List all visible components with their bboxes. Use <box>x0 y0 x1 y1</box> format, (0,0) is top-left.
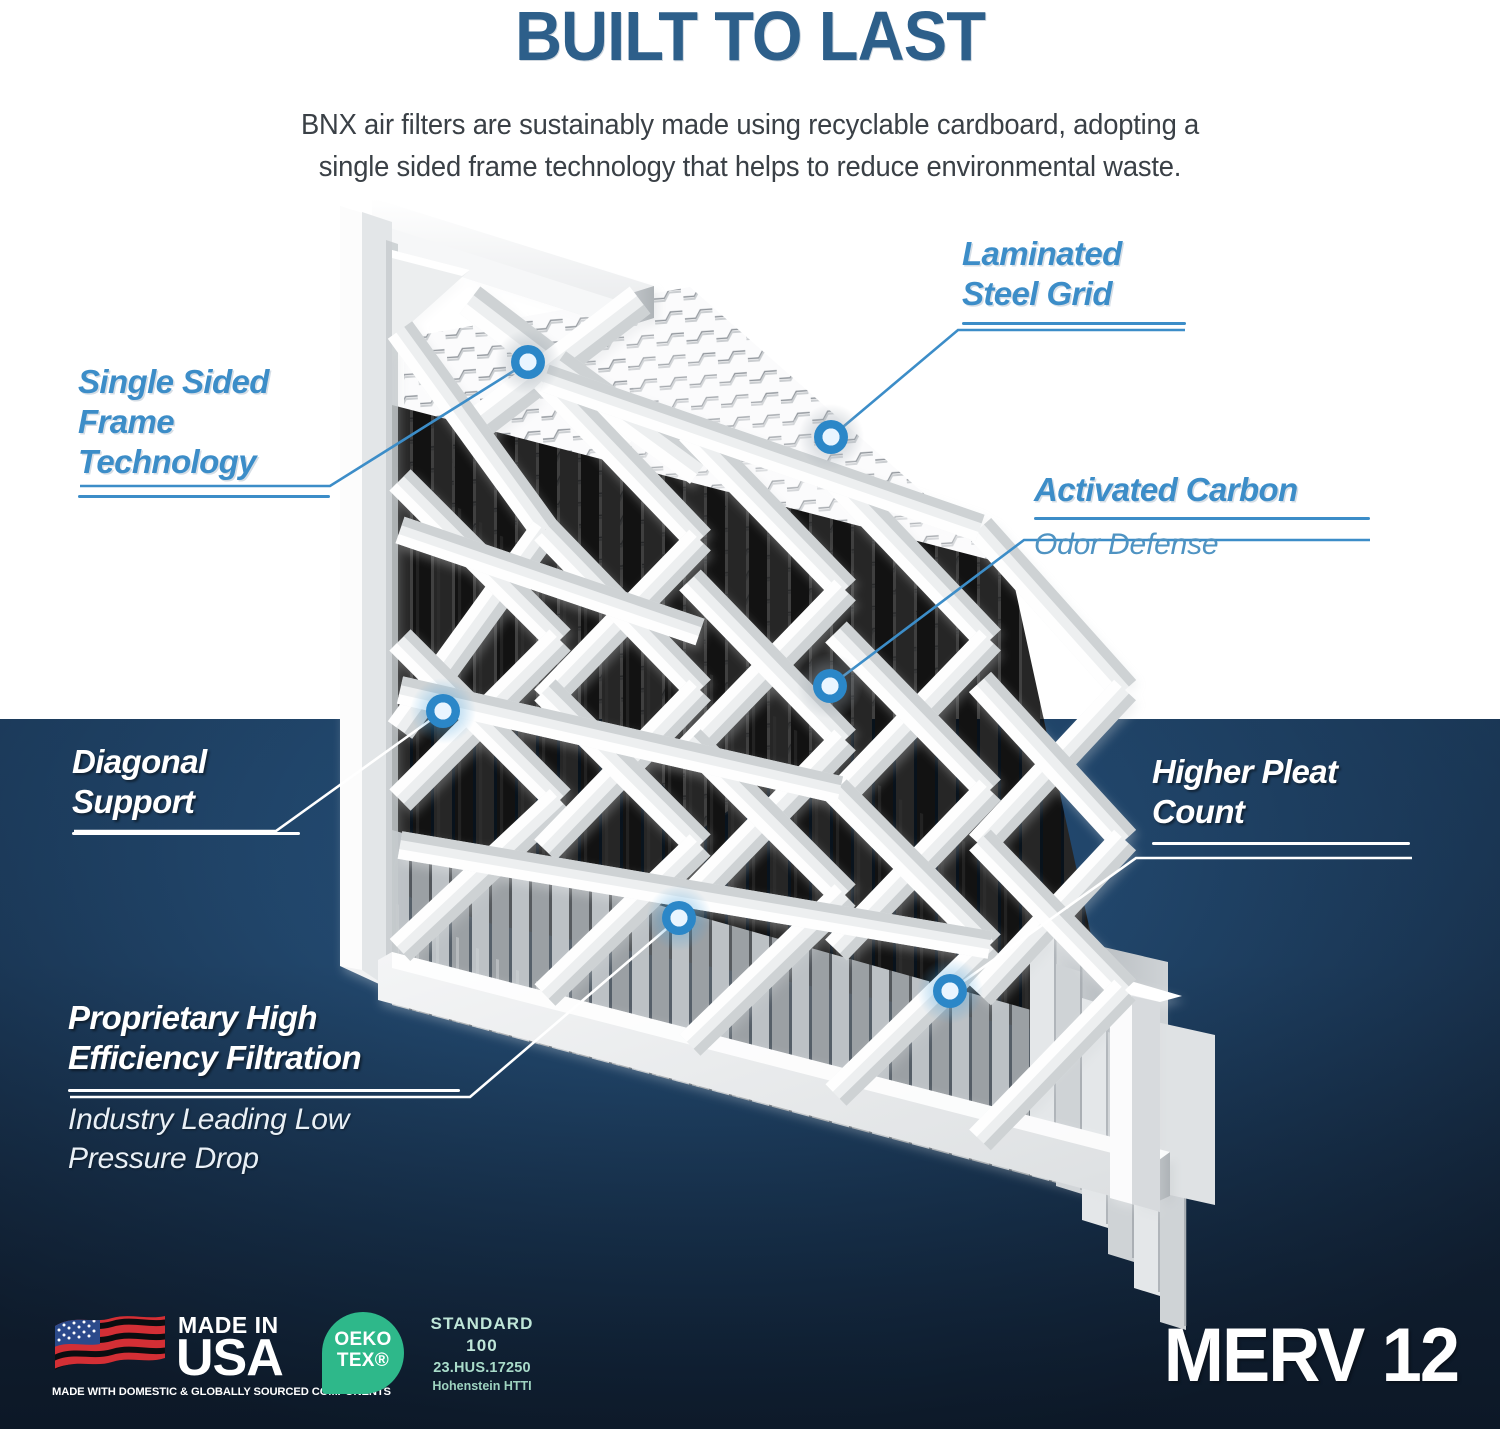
callout-proprietary-high-efficiency-filtration: Proprietary High Efficiency Filtration I… <box>68 998 488 1178</box>
callout-underline <box>78 495 330 498</box>
oeko-certificate-number: 23.HUS.17250 <box>416 1359 548 1378</box>
oeko-institute-label: Hohenstein HTTI <box>416 1378 548 1395</box>
page-subtitle-line-1: BNX air filters are sustainably made usi… <box>30 104 1470 146</box>
us-flag-icon <box>52 1312 168 1386</box>
page-subtitle: BNX air filters are sustainably made usi… <box>30 104 1470 188</box>
callout-higher-pleat-count: Higher Pleat Count <box>1152 752 1492 845</box>
made-in-usa-badge: MADE IN USA MADE WITH DOMESTIC & GLOBALL… <box>52 1310 314 1418</box>
callout-title: Single Sided Frame Technology <box>78 362 378 482</box>
page-subtitle-line-2: single sided frame technology that helps… <box>30 146 1470 188</box>
callout-title: Diagonal Support <box>72 742 372 822</box>
callout-laminated-steel-grid: Laminated Steel Grid <box>962 234 1382 325</box>
callout-underline <box>962 322 1186 325</box>
tex-label: TEX® <box>330 1350 396 1371</box>
made-in-usa-fineprint: MADE WITH DOMESTIC & GLOBALLY SOURCED CO… <box>52 1386 314 1398</box>
callout-single-sided-frame-technology: Single Sided Frame Technology <box>78 362 378 498</box>
callout-diagonal-support: Diagonal Support <box>72 742 372 835</box>
callout-title: Higher Pleat Count <box>1152 752 1492 832</box>
merv-rating-badge: MERV 12 <box>1164 1314 1458 1398</box>
oeko-tex-badge: OEKO TEX® STANDARD 100 23.HUS.17250 Hohe… <box>322 1312 552 1416</box>
callout-activated-carbon: Activated Carbon Odor Defense <box>1034 470 1494 564</box>
oeko-standard-label: STANDARD 100 <box>416 1313 548 1357</box>
callout-underline <box>72 832 300 835</box>
callout-subtitle: Industry Leading Low Pressure Drop <box>68 1100 488 1178</box>
callout-title: Laminated Steel Grid <box>962 234 1382 314</box>
page-title: BUILT TO LAST <box>53 0 1448 76</box>
oeko-label: OEKO <box>330 1329 396 1350</box>
callout-underline <box>1034 517 1370 520</box>
callout-underline <box>1152 842 1410 845</box>
callout-underline <box>68 1089 460 1092</box>
infographic-canvas: BUILT TO LAST BNX air filters are sustai… <box>0 0 1500 1429</box>
callout-subtitle: Odor Defense <box>1034 526 1494 564</box>
callout-title: Proprietary High Efficiency Filtration <box>68 998 488 1078</box>
callout-title: Activated Carbon <box>1034 470 1494 510</box>
certification-badges-row: MADE IN USA MADE WITH DOMESTIC & GLOBALL… <box>0 1300 1500 1429</box>
usa-label: USA <box>176 1332 283 1384</box>
